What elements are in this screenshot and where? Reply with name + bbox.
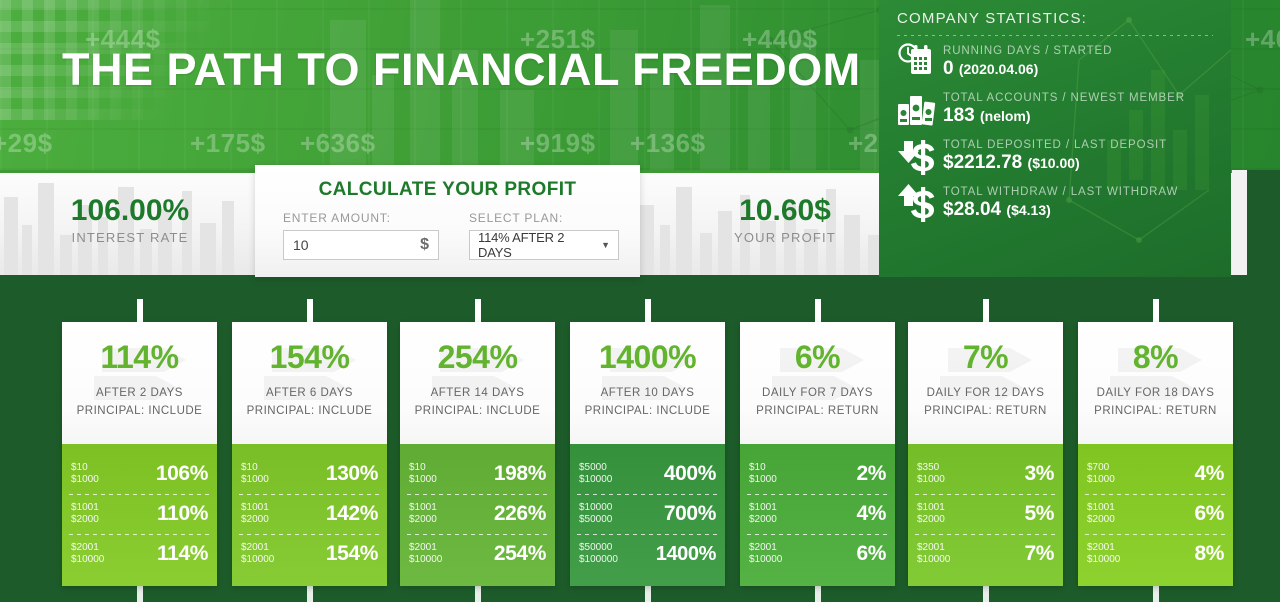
- plan-tier-row: $1001$2000226%: [400, 494, 555, 534]
- stats-row-sub: ($4.13): [1006, 202, 1050, 218]
- plan-duration: DAILY FOR 12 DAYS: [908, 387, 1063, 399]
- plan-tier-list: $10$1000106%$1001$2000110%$2001$10000114…: [62, 444, 217, 586]
- plan-card-header: 8%DAILY FOR 18 DAYSPRINCIPAL: RETURN: [1078, 322, 1233, 444]
- plan-tier-row: $1001$20006%: [1078, 494, 1233, 534]
- interest-rate-block: 106.00% INTEREST RATE: [22, 194, 238, 245]
- plan-tier-from: $1001: [71, 502, 99, 514]
- plan-tier-row: $1001$20005%: [908, 494, 1063, 534]
- plan-principal: PRINCIPAL: INCLUDE: [232, 405, 387, 417]
- plan-tier-from: $2001: [71, 542, 104, 554]
- plan-card[interactable]: 6%DAILY FOR 7 DAYSPRINCIPAL: RETURN$10$1…: [740, 322, 895, 586]
- plan-tier-row: $1001$2000142%: [232, 494, 387, 534]
- plan-percent: 254%: [400, 322, 555, 376]
- your-profit-label: YOUR PROFIT: [660, 230, 910, 245]
- plan-tier-range: $2001$10000: [917, 542, 950, 566]
- plan-card[interactable]: 8%DAILY FOR 18 DAYSPRINCIPAL: RETURN$700…: [1078, 322, 1233, 586]
- stats-row: TOTAL DEPOSITED / LAST DEPOSIT$2212.78 (…: [879, 130, 1231, 177]
- card-connector-stem-bottom: [475, 585, 481, 602]
- plan-tier-row: $10$1000198%: [400, 454, 555, 494]
- plan-percent: 1400%: [570, 322, 725, 376]
- stats-row-sub: (nelom): [980, 108, 1031, 124]
- plan-duration: AFTER 10 DAYS: [570, 387, 725, 399]
- stats-row-label: TOTAL DEPOSITED / LAST DEPOSIT: [943, 139, 1167, 151]
- plan-tier-list: $10$10002%$1001$20004%$2001$100006%: [740, 444, 895, 586]
- plan-tier-row: $5000$10000400%: [570, 454, 725, 494]
- stats-heading: COMPANY STATISTICS:: [879, 0, 1231, 27]
- amount-field-group: ENTER AMOUNT: $: [283, 211, 439, 260]
- plan-card[interactable]: 7%DAILY FOR 12 DAYSPRINCIPAL: RETURN$350…: [908, 322, 1063, 586]
- plan-select[interactable]: 114% AFTER 2 DAYS ▼: [469, 230, 619, 260]
- plan-tier-to: $1000: [409, 474, 437, 486]
- stats-row-value: 183 (nelom): [943, 105, 1185, 127]
- plan-tier-range: $1001$2000: [917, 502, 945, 526]
- stats-row: RUNNING DAYS / STARTED0 (2020.04.06): [879, 36, 1231, 83]
- stats-row-list: RUNNING DAYS / STARTED0 (2020.04.06)TOTA…: [879, 36, 1231, 224]
- plan-tier-range: $1001$2000: [71, 502, 99, 526]
- plan-percent: 154%: [232, 322, 387, 376]
- amount-input-wrapper[interactable]: $: [283, 230, 439, 260]
- plan-tier-percent: 114%: [157, 542, 208, 566]
- company-statistics-panel: COMPANY STATISTICS: RUNNING DAYS / START…: [879, 0, 1231, 277]
- plan-tier-row: $2001$10000114%: [62, 534, 217, 574]
- stats-row: TOTAL WITHDRAW / LAST WITHDRAW$28.04 ($4…: [879, 177, 1231, 224]
- plan-tier-percent: 8%: [1194, 542, 1224, 566]
- hero-floating-amount: +919$: [520, 128, 596, 159]
- dollar-withdraw-icon: [895, 182, 937, 224]
- hero-floating-amount: +636$: [300, 128, 376, 159]
- plan-principal: PRINCIPAL: RETURN: [740, 405, 895, 417]
- plan-tier-to: $2000: [1087, 514, 1115, 526]
- plan-percent: 114%: [62, 322, 217, 376]
- plan-tier-range: $2001$10000: [241, 542, 274, 566]
- plan-tier-from: $1001: [241, 502, 269, 514]
- card-connector-stem-bottom: [137, 585, 143, 602]
- hero-floating-amount: +175$: [190, 128, 266, 159]
- hero-floating-amount: +29$: [0, 128, 53, 159]
- plan-tier-range: $2001$10000: [71, 542, 104, 566]
- plan-percent: 7%: [908, 322, 1063, 376]
- plan-percent: 8%: [1078, 322, 1233, 376]
- plan-principal: PRINCIPAL: INCLUDE: [570, 405, 725, 417]
- plan-tier-to: $1000: [917, 474, 945, 486]
- plan-card[interactable]: 154%AFTER 6 DAYSPRINCIPAL: INCLUDE$10$10…: [232, 322, 387, 586]
- plan-tier-percent: 142%: [326, 502, 378, 526]
- plan-tier-list: $350$10003%$1001$20005%$2001$100007%: [908, 444, 1063, 586]
- stats-row: TOTAL ACCOUNTS / NEWEST MEMBER183 (nelom…: [879, 83, 1231, 130]
- plan-tier-to: $10000: [241, 554, 274, 566]
- plan-card[interactable]: 1400%AFTER 10 DAYSPRINCIPAL: INCLUDE$500…: [570, 322, 725, 586]
- stats-row-label: TOTAL WITHDRAW / LAST WITHDRAW: [943, 186, 1178, 198]
- hero-floating-amount: +40: [1245, 24, 1280, 55]
- plan-tier-list: $5000$10000400%$10000$50000700%$50000$10…: [570, 444, 725, 586]
- plan-card-header: 254%AFTER 14 DAYSPRINCIPAL: INCLUDE: [400, 322, 555, 444]
- plan-tier-row: $350$10003%: [908, 454, 1063, 494]
- plan-card-header: 6%DAILY FOR 7 DAYSPRINCIPAL: RETURN: [740, 322, 895, 444]
- stats-row-sub: ($10.00): [1028, 155, 1080, 171]
- stats-row-sub: (2020.04.06): [959, 61, 1038, 77]
- plan-tier-to: $10000: [917, 554, 950, 566]
- plan-tier-range: $1001$2000: [1087, 502, 1115, 526]
- stats-row-label: TOTAL ACCOUNTS / NEWEST MEMBER: [943, 92, 1185, 104]
- plan-tier-from: $1001: [409, 502, 437, 514]
- plan-tier-row: $700$10004%: [1078, 454, 1233, 494]
- stats-row-value: $28.04 ($4.13): [943, 199, 1178, 221]
- plan-duration: AFTER 14 DAYS: [400, 387, 555, 399]
- plan-tier-percent: 400%: [664, 462, 716, 486]
- plan-tier-percent: 110%: [157, 502, 208, 526]
- plan-card[interactable]: 254%AFTER 14 DAYSPRINCIPAL: INCLUDE$10$1…: [400, 322, 555, 586]
- plan-tier-to: $2000: [409, 514, 437, 526]
- plan-tier-to: $10000: [409, 554, 442, 566]
- plan-tier-percent: 5%: [1024, 502, 1054, 526]
- plan-tier-to: $2000: [241, 514, 269, 526]
- plan-tier-percent: 154%: [326, 542, 378, 566]
- plan-card-header: 1400%AFTER 10 DAYSPRINCIPAL: INCLUDE: [570, 322, 725, 444]
- plan-tier-to: $2000: [917, 514, 945, 526]
- interest-rate-value: 106.00%: [22, 194, 238, 228]
- plan-tier-range: $10$1000: [749, 462, 777, 486]
- plan-tier-from: $10000: [579, 502, 612, 514]
- plan-tier-to: $1000: [71, 474, 99, 486]
- plan-tier-percent: 2%: [856, 462, 886, 486]
- plan-duration: AFTER 6 DAYS: [232, 387, 387, 399]
- plan-tier-percent: 6%: [1194, 502, 1224, 526]
- plan-tier-to: $1000: [241, 474, 269, 486]
- plan-card[interactable]: 114%AFTER 2 DAYSPRINCIPAL: INCLUDE$10$10…: [62, 322, 217, 586]
- plan-tier-percent: 3%: [1024, 462, 1054, 486]
- plan-tier-percent: 6%: [856, 542, 886, 566]
- stats-row-value: 0 (2020.04.06): [943, 58, 1112, 80]
- plan-tier-from: $1001: [1087, 502, 1115, 514]
- plan-tier-range: $2001$10000: [749, 542, 782, 566]
- plan-principal: PRINCIPAL: INCLUDE: [400, 405, 555, 417]
- plan-tier-range: $10$1000: [71, 462, 99, 486]
- plan-tier-percent: 198%: [494, 462, 546, 486]
- plan-tier-range: $700$1000: [1087, 462, 1115, 486]
- plan-tier-to: $10000: [749, 554, 782, 566]
- money-bundles-icon: [895, 88, 937, 130]
- page-title: THE PATH TO FINANCIAL FREEDOM: [62, 44, 861, 96]
- stats-row-label: RUNNING DAYS / STARTED: [943, 45, 1112, 57]
- plan-tier-from: $10: [71, 462, 99, 474]
- plan-tier-to: $1000: [1087, 474, 1115, 486]
- currency-icon: $: [420, 236, 429, 254]
- plan-tier-row: $2001$100008%: [1078, 534, 1233, 574]
- plan-duration: DAILY FOR 7 DAYS: [740, 387, 895, 399]
- plan-select-value: 114% AFTER 2 DAYS: [478, 230, 601, 260]
- stats-row-number: $2212.78: [943, 152, 1022, 173]
- stats-row-number: $28.04: [943, 199, 1001, 220]
- stats-row-value: $2212.78 ($10.00): [943, 152, 1167, 174]
- plan-tier-to: $10000: [1087, 554, 1120, 566]
- plan-tier-from: $2001: [409, 542, 442, 554]
- plan-tier-to: $50000: [579, 514, 612, 526]
- plan-tier-row: $10$10002%: [740, 454, 895, 494]
- plan-tier-from: $700: [1087, 462, 1115, 474]
- plan-tier-row: $50000$1000001400%: [570, 534, 725, 574]
- plan-tier-range: $2001$10000: [409, 542, 442, 566]
- card-connector-stem-bottom: [307, 585, 313, 602]
- plan-tier-from: $5000: [579, 462, 612, 474]
- plan-tier-percent: 4%: [1194, 462, 1224, 486]
- plan-tier-row: $2001$100007%: [908, 534, 1063, 574]
- plan-tier-row: $10$1000106%: [62, 454, 217, 494]
- band-right-sliver: [1232, 170, 1247, 275]
- your-profit-block: 10.60$ YOUR PROFIT: [660, 194, 910, 245]
- plan-tier-row: $1001$2000110%: [62, 494, 217, 534]
- plan-tier-percent: 106%: [156, 462, 208, 486]
- plan-tier-range: $10$1000: [241, 462, 269, 486]
- plan-tier-from: $2001: [241, 542, 274, 554]
- plan-tier-list: $10$1000130%$1001$2000142%$2001$10000154…: [232, 444, 387, 586]
- plan-tier-to: $2000: [71, 514, 99, 526]
- plan-principal: PRINCIPAL: INCLUDE: [62, 405, 217, 417]
- plan-tier-row: $2001$100006%: [740, 534, 895, 574]
- card-connector-stem-bottom: [983, 585, 989, 602]
- plan-tier-from: $50000: [579, 542, 618, 554]
- plan-tier-range: $5000$10000: [579, 462, 612, 486]
- plan-tier-to: $2000: [749, 514, 777, 526]
- plan-tier-to: $10000: [579, 474, 612, 486]
- plan-card-header: 154%AFTER 6 DAYSPRINCIPAL: INCLUDE: [232, 322, 387, 444]
- plan-tier-from: $10: [749, 462, 777, 474]
- plan-principal: PRINCIPAL: RETURN: [1078, 405, 1233, 417]
- plan-tier-to: $100000: [579, 554, 618, 566]
- plan-tier-from: $1001: [917, 502, 945, 514]
- plan-tier-row: $2001$10000254%: [400, 534, 555, 574]
- plan-tier-row: $10$1000130%: [232, 454, 387, 494]
- card-connector-stem-bottom: [1153, 585, 1159, 602]
- interest-rate-label: INTEREST RATE: [22, 230, 238, 245]
- plan-tier-range: $1001$2000: [241, 502, 269, 526]
- plan-tier-list: $700$10004%$1001$20006%$2001$100008%: [1078, 444, 1233, 586]
- plan-percent: 6%: [740, 322, 895, 376]
- amount-input[interactable]: [284, 231, 438, 259]
- plan-tier-range: $1001$2000: [749, 502, 777, 526]
- dollar-deposit-icon: [895, 135, 937, 177]
- plan-tier-range: $10000$50000: [579, 502, 612, 526]
- plan-tier-from: $10: [241, 462, 269, 474]
- plan-tier-to: $1000: [749, 474, 777, 486]
- plan-tier-to: $10000: [71, 554, 104, 566]
- profit-calculator-card: CALCULATE YOUR PROFIT ENTER AMOUNT: $ SE…: [255, 165, 640, 277]
- stats-row-number: 0: [943, 58, 954, 79]
- amount-label: ENTER AMOUNT:: [283, 211, 439, 225]
- plan-tier-range: $2001$10000: [1087, 542, 1120, 566]
- plan-tier-percent: 130%: [326, 462, 378, 486]
- plan-tier-from: $350: [917, 462, 945, 474]
- plan-tier-row: $10000$50000700%: [570, 494, 725, 534]
- plan-tier-percent: 700%: [664, 502, 716, 526]
- calendar-clock-icon: [895, 41, 937, 83]
- plan-duration: AFTER 2 DAYS: [62, 387, 217, 399]
- plan-card-header: 7%DAILY FOR 12 DAYSPRINCIPAL: RETURN: [908, 322, 1063, 444]
- your-profit-value: 10.60$: [660, 194, 910, 228]
- plan-tier-percent: 1400%: [656, 543, 716, 566]
- calculator-title: CALCULATE YOUR PROFIT: [255, 165, 640, 201]
- plan-tier-from: $10: [409, 462, 437, 474]
- card-connector-stem-bottom: [645, 585, 651, 602]
- plan-tier-percent: 254%: [494, 542, 546, 566]
- plan-tier-list: $10$1000198%$1001$2000226%$2001$10000254…: [400, 444, 555, 586]
- card-connector-stem-bottom: [815, 585, 821, 602]
- plan-tier-from: $2001: [917, 542, 950, 554]
- plan-tier-range: $50000$100000: [579, 542, 618, 566]
- plan-tier-percent: 7%: [1024, 542, 1054, 566]
- chevron-down-icon: ▼: [601, 240, 610, 250]
- plan-tier-range: $10$1000: [409, 462, 437, 486]
- plan-tier-percent: 226%: [494, 502, 546, 526]
- plan-card-header: 114%AFTER 2 DAYSPRINCIPAL: INCLUDE: [62, 322, 217, 444]
- hero-floating-amount: +136$: [630, 128, 706, 159]
- investment-plan-cards: 114%AFTER 2 DAYSPRINCIPAL: INCLUDE$10$10…: [0, 275, 1280, 602]
- plan-tier-percent: 4%: [856, 502, 886, 526]
- plan-duration: DAILY FOR 18 DAYS: [1078, 387, 1233, 399]
- plan-field-group: SELECT PLAN: 114% AFTER 2 DAYS ▼: [469, 211, 619, 260]
- plan-tier-from: $2001: [749, 542, 782, 554]
- plan-principal: PRINCIPAL: RETURN: [908, 405, 1063, 417]
- plan-tier-row: $1001$20004%: [740, 494, 895, 534]
- stats-row-number: 183: [943, 105, 975, 126]
- plan-tier-from: $2001: [1087, 542, 1120, 554]
- plan-tier-range: $1001$2000: [409, 502, 437, 526]
- plan-tier-from: $1001: [749, 502, 777, 514]
- plan-tier-range: $350$1000: [917, 462, 945, 486]
- plan-label: SELECT PLAN:: [469, 211, 619, 225]
- plan-tier-row: $2001$10000154%: [232, 534, 387, 574]
